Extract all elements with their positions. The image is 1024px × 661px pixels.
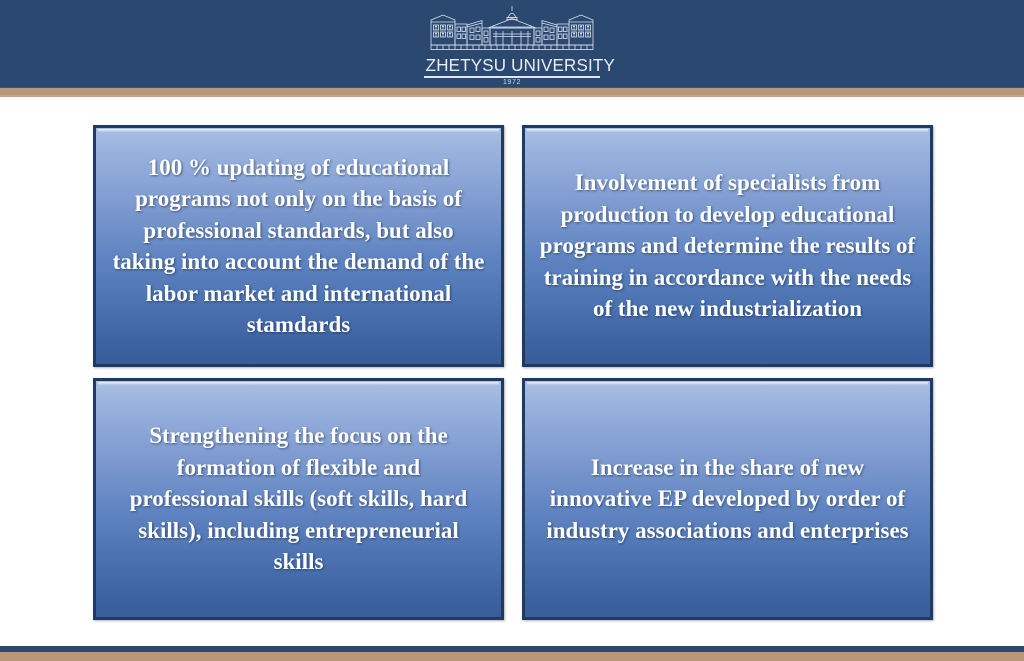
footer-tan-stripe [0, 652, 1024, 661]
wordmark-underline [424, 76, 600, 78]
card-text: Involvement of specialists from producti… [525, 167, 930, 325]
card-text: Increase in the share of new innovative … [525, 452, 930, 547]
card-specialist-involvement: Involvement of specialists from producti… [522, 125, 933, 367]
content-card-grid: 100 % updating of educational programs n… [93, 125, 933, 620]
card-innovative-ep-share: Increase in the share of new innovative … [522, 378, 933, 620]
card-flexible-professional-skills: Strengthening the focus on the formation… [93, 378, 504, 620]
university-logo: ZHETYSU UNIVERSITY 1972 [0, 5, 1024, 87]
card-text: 100 % updating of educational programs n… [96, 152, 501, 341]
card-text: Strengthening the focus on the formation… [96, 420, 501, 578]
slide-body: 100 % updating of educational programs n… [0, 97, 1024, 646]
university-wordmark: ZHETYSU UNIVERSITY [426, 56, 599, 75]
university-building-icon [417, 5, 607, 55]
slide-header-band: ZHETYSU UNIVERSITY 1972 [0, 0, 1024, 88]
founding-year: 1972 [0, 79, 1024, 87]
card-educational-programs-update: 100 % updating of educational programs n… [93, 125, 504, 367]
